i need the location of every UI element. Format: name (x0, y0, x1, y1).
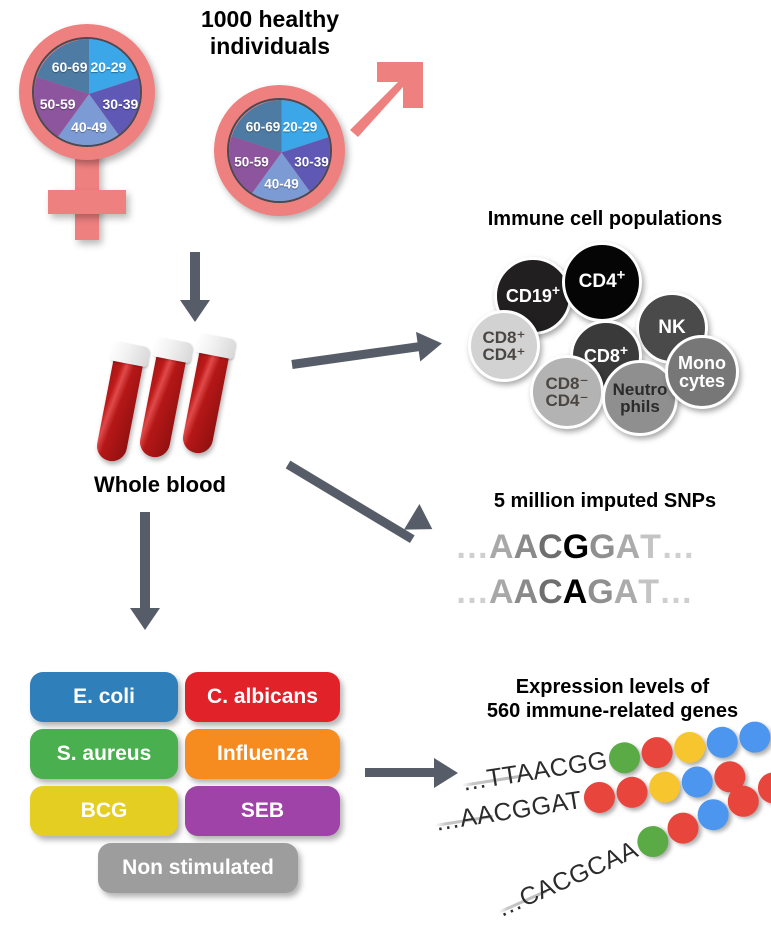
gene-bead (614, 775, 649, 810)
immune-cell-cd4: CD4+ (562, 242, 642, 322)
immune-cell-cd8cd4: CD8⁻CD4⁻ (530, 355, 604, 429)
female-symbol-crossbar (48, 190, 126, 214)
gene-bead (607, 740, 642, 775)
immune-cell-label: CD8+ (584, 347, 628, 365)
stimulant-calbicans[interactable]: C. albicans (185, 672, 340, 722)
immune-cell-label: CD8⁻CD4⁻ (546, 375, 589, 410)
male-age-pie: 20-2930-3940-4950-5960-69 (227, 98, 332, 203)
age-label-20-29: 20-29 (90, 59, 126, 75)
stimulant-nonstimulated[interactable]: Non stimulated (98, 843, 298, 893)
age-label-40-49: 40-49 (264, 177, 299, 192)
gene-bead (705, 725, 740, 760)
stimulant-label: C. albicans (207, 685, 318, 709)
stimulant-influenza[interactable]: Influenza (185, 729, 340, 779)
stimulant-seb[interactable]: SEB (185, 786, 340, 836)
snp-sequence-row: …AACAGAT… (455, 573, 693, 612)
strand-sequence: …AACGGAT (433, 786, 584, 838)
gene-bead (679, 764, 714, 799)
snp-sequences: …AACGGAT……AACAGAT… (455, 528, 755, 628)
stimulant-label: BCG (81, 799, 128, 823)
age-label-40-49: 40-49 (71, 119, 107, 135)
immune-cell-monocytes: Monocytes (665, 335, 739, 409)
stimulant-panel: E. coliC. albicansS. aureusInfluenzaBCGS… (30, 672, 350, 892)
gene-bead (581, 780, 616, 815)
age-label-30-39: 30-39 (294, 155, 329, 170)
whole-blood-tubes (105, 340, 255, 470)
stimulant-label: E. coli (73, 685, 135, 709)
gene-bead (640, 735, 675, 770)
stimulant-label: Influenza (217, 742, 308, 766)
immune-cell-label: CD19+ (506, 287, 560, 305)
age-label-60-69: 60-69 (52, 59, 88, 75)
age-label-60-69: 60-69 (246, 120, 281, 135)
female-age-pie: 20-2930-3940-4950-5960-69 (32, 37, 142, 147)
immune-populations-title: Immune cell populations (450, 208, 760, 232)
gene-bead (647, 769, 682, 804)
age-label-30-39: 30-39 (102, 96, 138, 112)
snp-sequence-row: …AACGGAT… (455, 528, 695, 567)
snps-title: 5 million imputed SNPs (450, 490, 760, 514)
gene-strands: …TTAACGG…AACGGAT…CACGCAA (440, 730, 771, 920)
expression-title: Expression levels of 560 immune-related … (460, 676, 765, 723)
male-gender-symbol: 20-2930-3940-4950-5960-69 (205, 60, 420, 255)
stimulant-label: Non stimulated (122, 856, 274, 880)
stimulant-bcg[interactable]: BCG (30, 786, 178, 836)
immune-cell-label: Neutrophils (613, 381, 668, 416)
expression-title-line1: Expression levels of (460, 676, 765, 700)
age-label-20-29: 20-29 (283, 120, 318, 135)
immune-cell-label: CD4+ (579, 272, 626, 291)
age-label-50-59: 50-59 (234, 155, 269, 170)
immune-cell-label: CD8⁺CD4⁺ (483, 329, 526, 364)
female-gender-symbol: 20-2930-3940-4950-5960-69 (10, 18, 190, 238)
page-title-line1: 1000 healthy (170, 6, 370, 33)
gene-bead (737, 719, 771, 754)
immune-cell-label: Monocytes (678, 354, 726, 391)
whole-blood-label: Whole blood (60, 472, 260, 498)
immune-cell-label: NK (658, 318, 685, 337)
gene-bead (672, 730, 707, 765)
stimulant-label: SEB (241, 799, 284, 823)
age-label-50-59: 50-59 (40, 96, 76, 112)
stimulant-saureus[interactable]: S. aureus (30, 729, 178, 779)
stimulant-label: S. aureus (57, 742, 152, 766)
immune-cell-cd8cd4: CD8⁺CD4⁺ (468, 310, 540, 382)
strand-sequence: …CACGCAA (492, 835, 643, 923)
stimulant-ecoli[interactable]: E. coli (30, 672, 178, 722)
expression-title-line2: 560 immune-related genes (460, 700, 765, 724)
